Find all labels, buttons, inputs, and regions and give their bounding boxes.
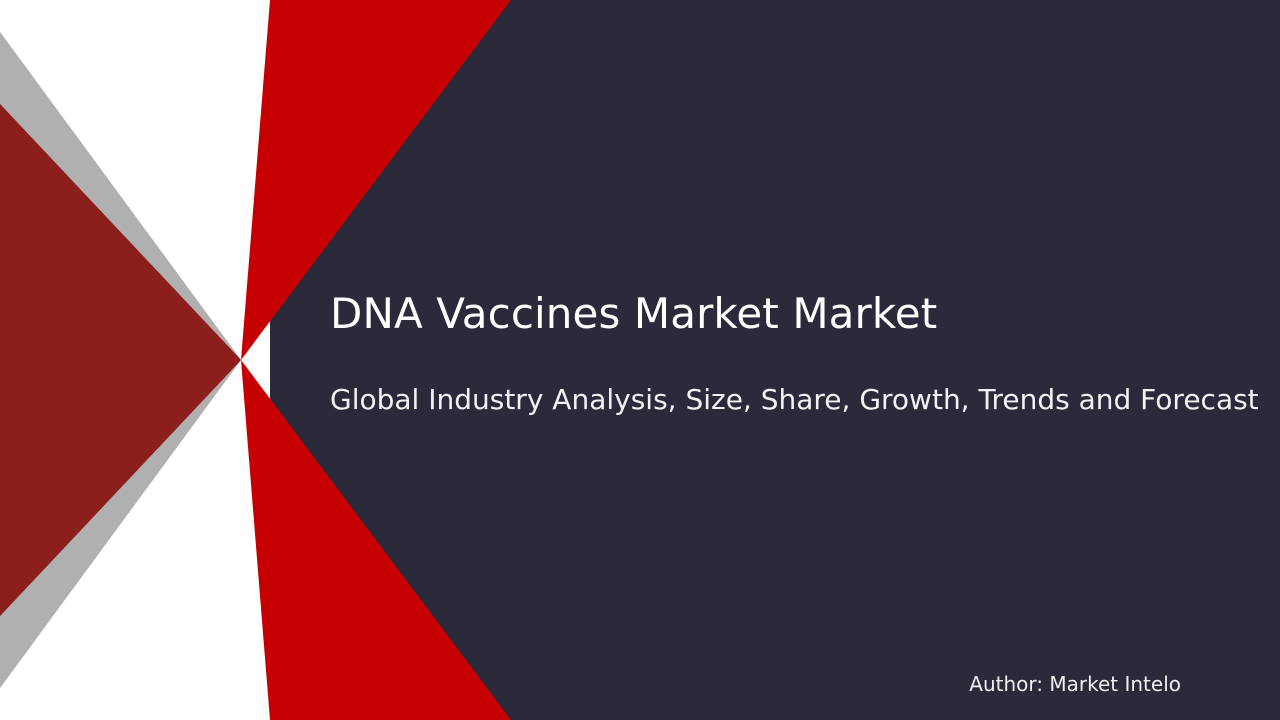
slide-content: DNA Vaccines Market Market Global Indust…: [0, 0, 1280, 720]
page-title: DNA Vaccines Market Market: [330, 290, 1230, 338]
slide-subtitle: Global Industry Analysis, Size, Share, G…: [330, 383, 1240, 417]
author-label: Author: Market Intelo: [969, 672, 1181, 696]
title-slide: DNA Vaccines Market Market Global Indust…: [0, 0, 1280, 720]
